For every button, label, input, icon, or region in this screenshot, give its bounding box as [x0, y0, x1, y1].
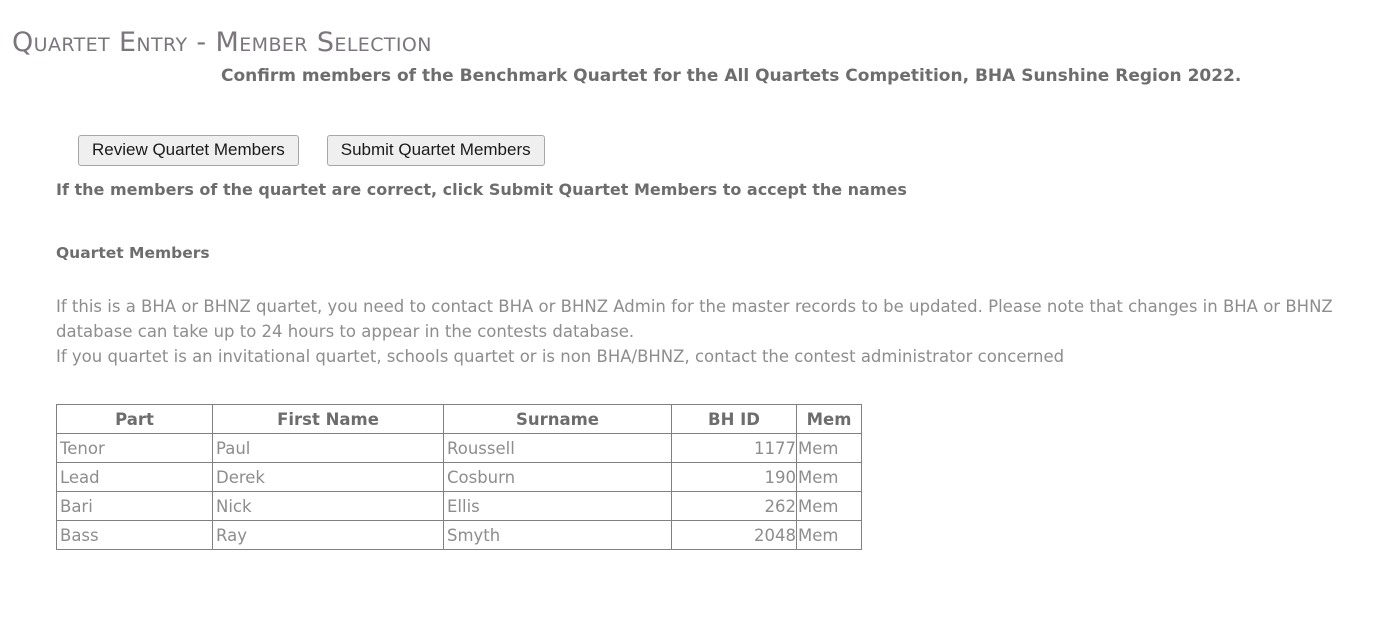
table-row: Lead Derek Cosburn 190 Mem — [57, 463, 862, 492]
column-header-mem: Mem — [797, 405, 862, 434]
submit-quartet-members-button[interactable]: Submit Quartet Members — [327, 135, 545, 166]
cell-part: Bass — [57, 521, 213, 550]
column-header-part: Part — [57, 405, 213, 434]
column-header-surname: Surname — [444, 405, 672, 434]
cell-surname: Roussell — [444, 434, 672, 463]
cell-bh-id: 1177 — [672, 434, 797, 463]
cell-bh-id: 2048 — [672, 521, 797, 550]
cell-first-name: Ray — [213, 521, 444, 550]
quartet-members-table: Part First Name Surname BH ID Mem Tenor … — [56, 404, 862, 550]
admin-note-line-2: If you quartet is an invitational quarte… — [56, 344, 1346, 369]
table-row: Bari Nick Ellis 262 Mem — [57, 492, 862, 521]
table-row: Bass Ray Smyth 2048 Mem — [57, 521, 862, 550]
table-header-row: Part First Name Surname BH ID Mem — [57, 405, 862, 434]
cell-part: Tenor — [57, 434, 213, 463]
page-subtitle: Confirm members of the Benchmark Quartet… — [221, 66, 1241, 86]
cell-part: Lead — [57, 463, 213, 492]
cell-first-name: Paul — [213, 434, 444, 463]
column-header-first-name: First Name — [213, 405, 444, 434]
cell-bh-id: 262 — [672, 492, 797, 521]
page-title: Quartet Entry - Member Selection — [12, 27, 432, 58]
cell-mem: Mem — [797, 463, 862, 492]
cell-mem: Mem — [797, 434, 862, 463]
cell-surname: Ellis — [444, 492, 672, 521]
cell-mem: Mem — [797, 521, 862, 550]
cell-surname: Smyth — [444, 521, 672, 550]
column-header-bh-id: BH ID — [672, 405, 797, 434]
cell-first-name: Nick — [213, 492, 444, 521]
submit-instruction-text: If the members of the quartet are correc… — [56, 180, 907, 199]
admin-note-line-1: If this is a BHA or BHNZ quartet, you ne… — [56, 297, 1333, 341]
quartet-members-heading: Quartet Members — [56, 244, 210, 262]
cell-first-name: Derek — [213, 463, 444, 492]
cell-surname: Cosburn — [444, 463, 672, 492]
admin-note: If this is a BHA or BHNZ quartet, you ne… — [56, 294, 1346, 369]
table-row: Tenor Paul Roussell 1177 Mem — [57, 434, 862, 463]
cell-bh-id: 190 — [672, 463, 797, 492]
action-button-row: Review Quartet Members Submit Quartet Me… — [78, 135, 545, 166]
cell-mem: Mem — [797, 492, 862, 521]
cell-part: Bari — [57, 492, 213, 521]
review-quartet-members-button[interactable]: Review Quartet Members — [78, 135, 299, 166]
